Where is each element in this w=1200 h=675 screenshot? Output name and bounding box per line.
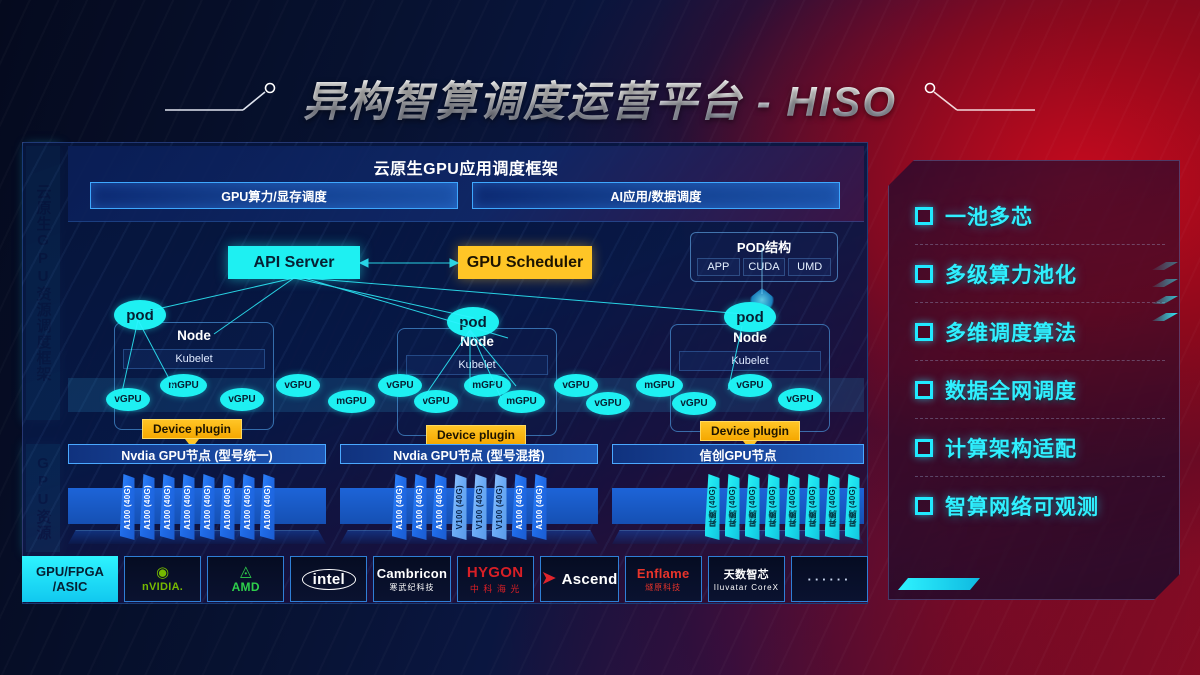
title-decoration-right (915, 78, 1035, 118)
device-plugin-3[interactable]: Device plugin (700, 421, 800, 441)
kubelet-2: Kubelet (406, 355, 548, 375)
gpu-card[interactable]: A100 (40G) (392, 474, 407, 540)
vendor-name-nvidia: nVIDIA. (142, 581, 183, 593)
feature-list: 一池多芯多级算力池化多维调度算法数据全网调度计算架构适配智算网络可观测 (915, 187, 1165, 577)
gpu-card-label: A100 (40G) (143, 485, 152, 530)
gpu-ellipse-2-4[interactable]: mGPU (498, 390, 545, 413)
vendor-category-line2: /ASIC (53, 580, 88, 594)
pod-structure-cells: APP CUDA UMD (691, 258, 837, 281)
gpu-card[interactable]: A100 (40G) (532, 474, 547, 540)
device-plugin-2[interactable]: Device plugin (426, 425, 526, 445)
vendor-logo-hygon[interactable]: HYGON 中 科 海 光 (457, 556, 534, 602)
vendor-logo-enflame[interactable]: Enflame 燧原科技 (625, 556, 702, 602)
checkbox-square-icon (915, 207, 933, 225)
feature-item[interactable]: 多级算力池化 (915, 245, 1165, 303)
gpu-card[interactable]: A100 (40G) (240, 474, 255, 540)
gpu-node-title-2: Nvdia GPU节点 (型号混搭) (340, 444, 598, 464)
vendor-category-line1: GPU/FPGA (36, 565, 104, 579)
gpu-card-label: 昇腾 (40G) (787, 486, 798, 527)
gpu-ellipse-1-5[interactable]: mGPU (328, 390, 375, 413)
gpu-card[interactable]: A100 (40G) (220, 474, 235, 540)
vendor-subname-hygon: 中 科 海 光 (470, 582, 521, 595)
pod-cell-umd: UMD (788, 258, 831, 276)
vendor-category-label: GPU/FPGA /ASIC (22, 556, 118, 602)
gpu-card-label: A100 (40G) (243, 485, 252, 530)
gpu-node-group-2: Nvdia GPU节点 (型号混搭) A100 (40G)A100 (40G)A… (340, 444, 598, 552)
gpu-card[interactable]: A100 (40G) (160, 474, 175, 540)
gpu-card[interactable]: A100 (40G) (200, 474, 215, 540)
feature-item[interactable]: 数据全网调度 (915, 361, 1165, 419)
gpu-ellipse-3-3[interactable]: vGPU (728, 374, 772, 397)
vendor-logo-strip: GPU/FPGA /ASIC ◉ nVIDIA. ◬ AMD intel Cam… (22, 556, 868, 602)
bar-ai-application-scheduling[interactable]: AI应用/数据调度 (472, 182, 840, 209)
gpu-card-label: A100 (40G) (223, 485, 232, 530)
vendor-logo-nvidia[interactable]: ◉ nVIDIA. (124, 556, 201, 602)
gpu-card[interactable]: 昇腾 (40G) (705, 474, 720, 540)
gpu-card-label: A100 (40G) (183, 485, 192, 530)
vendor-subname-iluvatar: Iluvatar CoreX (714, 583, 779, 592)
gpu-card[interactable]: V100 (40G) (492, 474, 507, 540)
vendor-subname-enflame: 燧原科技 (645, 582, 681, 593)
gpu-card[interactable]: 昇腾 (40G) (745, 474, 760, 540)
gpu-card[interactable]: 昇腾 (40G) (785, 474, 800, 540)
vendor-logo-iluvatar[interactable]: 天数智芯 Iluvatar CoreX (708, 556, 785, 602)
gpu-card[interactable]: A100 (40G) (412, 474, 427, 540)
gpu-card[interactable]: A100 (40G) (140, 474, 155, 540)
gpu-card-label: 昇腾 (40G) (707, 486, 718, 527)
gpu-tray-1: A100 (40G)A100 (40G)A100 (40G)A100 (40G)… (68, 474, 326, 544)
feature-panel: 一池多芯多级算力池化多维调度算法数据全网调度计算架构适配智算网络可观测 (888, 160, 1180, 600)
gpu-card-label: A100 (40G) (163, 485, 172, 530)
feature-item[interactable]: 一池多芯 (915, 187, 1165, 245)
gpu-card-label: A100 (40G) (263, 485, 272, 530)
page-title: 异构智算调度运营平台 - HISO (303, 68, 897, 129)
gpu-card-label: A100 (40G) (435, 485, 444, 530)
gpu-card-label: 昇腾 (40G) (847, 486, 858, 527)
gpu-card[interactable]: 昇腾 (40G) (845, 474, 860, 540)
kubelet-1: Kubelet (123, 349, 265, 369)
architecture-diagram: 云原生GPU应用调度框架 GPU算力/显存调度 AI应用/数据调度 (22, 142, 868, 604)
gpu-card[interactable]: A100 (40G) (260, 474, 275, 540)
gpu-scheduler-box[interactable]: GPU Scheduler (458, 246, 592, 279)
pod-cell-app: APP (697, 258, 740, 276)
gpu-card-label: V100 (40G) (455, 485, 464, 529)
vendor-name-cambricon: Cambricon (377, 566, 448, 581)
gpu-card[interactable]: V100 (40G) (472, 474, 487, 540)
gpu-card-label: A100 (40G) (415, 485, 424, 530)
kubelet-3: Kubelet (679, 351, 821, 371)
gpu-card-label: 昇腾 (40G) (727, 486, 738, 527)
bar-compute-scheduling[interactable]: GPU算力/显存调度 (90, 182, 458, 209)
tray-plate-1 (68, 488, 326, 524)
gpu-ellipse-3-4[interactable]: vGPU (778, 388, 822, 411)
tray-base-1 (68, 530, 326, 544)
vendor-name-ascend: Ascend (562, 571, 618, 588)
checkbox-square-icon (915, 381, 933, 399)
gpu-tray-3: 昇腾 (40G)昇腾 (40G)昇腾 (40G)昇腾 (40G)昇腾 (40G)… (612, 474, 864, 544)
checkbox-square-icon (915, 265, 933, 283)
gpu-card-label: A100 (40G) (203, 485, 212, 530)
title-bar: 异构智算调度运营平台 - HISO (0, 62, 1200, 134)
vendor-logo-cambricon[interactable]: Cambricon 寒武纪科技 (373, 556, 450, 602)
gpu-node-group-3: 信创GPU节点 昇腾 (40G)昇腾 (40G)昇腾 (40G)昇腾 (40G)… (612, 444, 864, 552)
gpu-ellipse-1-1[interactable]: vGPU (106, 388, 150, 411)
feature-label: 多级算力池化 (945, 259, 1077, 289)
feature-label: 计算架构适配 (945, 433, 1077, 463)
node-title-3: Node (671, 330, 829, 345)
pod-ellipse-3[interactable]: pod (724, 302, 776, 332)
vendor-logo-intel[interactable]: intel (290, 556, 367, 602)
amd-arrow-icon: ◬ (240, 565, 252, 579)
gpu-card-label: A100 (40G) (515, 485, 524, 530)
feature-item[interactable]: 多维调度算法 (915, 303, 1165, 361)
gpu-ellipse-3-2[interactable]: vGPU (672, 392, 716, 415)
vendor-name-hygon: HYGON (467, 564, 524, 581)
gpu-card[interactable]: A100 (40G) (120, 474, 135, 540)
feature-item[interactable]: 计算架构适配 (915, 419, 1165, 477)
gpu-resource-row: Nvdia GPU节点 (型号统一) A100 (40G)A100 (40G)A… (68, 444, 864, 552)
gpu-card[interactable]: A100 (40G) (432, 474, 447, 540)
feature-label: 多维调度算法 (945, 317, 1077, 347)
checkbox-square-icon (915, 497, 933, 515)
gpu-card-label: A100 (40G) (535, 485, 544, 530)
vendor-name-enflame: Enflame (637, 566, 690, 581)
vendor-logo-ascend[interactable]: ➤ Ascend (540, 556, 619, 602)
vendor-name-more: ······ (807, 572, 851, 587)
checkbox-square-icon (915, 439, 933, 457)
feature-item[interactable]: 智算网络可观测 (915, 477, 1165, 535)
framework-heading: 云原生GPU应用调度框架 (68, 146, 864, 179)
gpu-ellipse-2-2[interactable]: vGPU (414, 390, 458, 413)
vendor-logo-more[interactable]: ······ (791, 556, 868, 602)
vendor-subname-cambricon: 寒武纪科技 (389, 582, 434, 593)
nvidia-eye-icon: ◉ (156, 566, 169, 580)
pod-ellipse-1[interactable]: pod (114, 300, 166, 330)
gpu-card[interactable]: V100 (40G) (452, 474, 467, 540)
gpu-card-label: 昇腾 (40G) (767, 486, 778, 527)
ascend-mark-icon: ➤ (541, 571, 557, 587)
gpu-card-label: A100 (40G) (123, 485, 132, 530)
device-plugin-1[interactable]: Device plugin (142, 419, 242, 439)
panel-corner-accent-bottom (898, 578, 980, 590)
gpu-ellipse-3-1[interactable]: mGPU (636, 374, 683, 397)
gpu-node-title-1: Nvdia GPU节点 (型号统一) (68, 444, 326, 464)
framework-top-band: 云原生GPU应用调度框架 GPU算力/显存调度 AI应用/数据调度 (68, 146, 864, 222)
gpu-node-group-1: Nvdia GPU节点 (型号统一) A100 (40G)A100 (40G)A… (68, 444, 326, 552)
pod-structure-title: POD结构 (691, 233, 837, 258)
vendor-logo-amd[interactable]: ◬ AMD (207, 556, 284, 602)
gpu-ellipse-1-3[interactable]: vGPU (220, 388, 264, 411)
feature-label: 一池多芯 (945, 201, 1033, 231)
pod-ellipse-2[interactable]: pod (447, 307, 499, 337)
gpu-ellipse-2-6[interactable]: vGPU (586, 392, 630, 415)
gpu-card-label: V100 (40G) (495, 485, 504, 529)
gpu-ellipse-1-4[interactable]: vGPU (276, 374, 320, 397)
gpu-card[interactable]: 昇腾 (40G) (765, 474, 780, 540)
gpu-card-label: A100 (40G) (395, 485, 404, 530)
title-decoration-left (165, 78, 285, 118)
pod-structure-box: POD结构 APP CUDA UMD (690, 232, 838, 282)
api-server-box[interactable]: API Server (228, 246, 360, 279)
tray-plate-2 (340, 488, 598, 524)
node-title-1: Node (115, 328, 273, 343)
vendor-name-iluvatar: 天数智芯 (724, 566, 769, 582)
gpu-card[interactable]: 昇腾 (40G) (825, 474, 840, 540)
gpu-card-label: V100 (40G) (475, 485, 484, 529)
gpu-ellipse-2-1[interactable]: vGPU (378, 374, 422, 397)
vendor-name-amd: AMD (232, 580, 260, 594)
gpu-ellipse-1-2[interactable]: mGPU (160, 374, 207, 397)
gpu-ellipse-2-5[interactable]: vGPU (554, 374, 598, 397)
gpu-card-label: 昇腾 (40G) (747, 486, 758, 527)
gpu-tray-2: A100 (40G)A100 (40G)A100 (40G)V100 (40G)… (340, 474, 598, 544)
vendor-name-intel: intel (302, 569, 356, 590)
slide-canvas: 异构智算调度运营平台 - HISO 云原生GPU资源调度框架 GPU资源 云原生… (0, 0, 1200, 675)
gpu-card[interactable]: 昇腾 (40G) (725, 474, 740, 540)
gpu-card[interactable]: A100 (40G) (512, 474, 527, 540)
feature-label: 智算网络可观测 (945, 491, 1099, 521)
gpu-card[interactable]: 昇腾 (40G) (805, 474, 820, 540)
gpu-node-title-3: 信创GPU节点 (612, 444, 864, 464)
checkbox-square-icon (915, 323, 933, 341)
gpu-card[interactable]: A100 (40G) (180, 474, 195, 540)
gpu-card-label: 昇腾 (40G) (807, 486, 818, 527)
tray-base-2 (340, 530, 598, 544)
panel-corner-accent-side (1152, 262, 1178, 354)
feature-label: 数据全网调度 (945, 375, 1077, 405)
gpu-card-label: 昇腾 (40G) (827, 486, 838, 527)
pod-cell-cuda: CUDA (743, 258, 786, 276)
